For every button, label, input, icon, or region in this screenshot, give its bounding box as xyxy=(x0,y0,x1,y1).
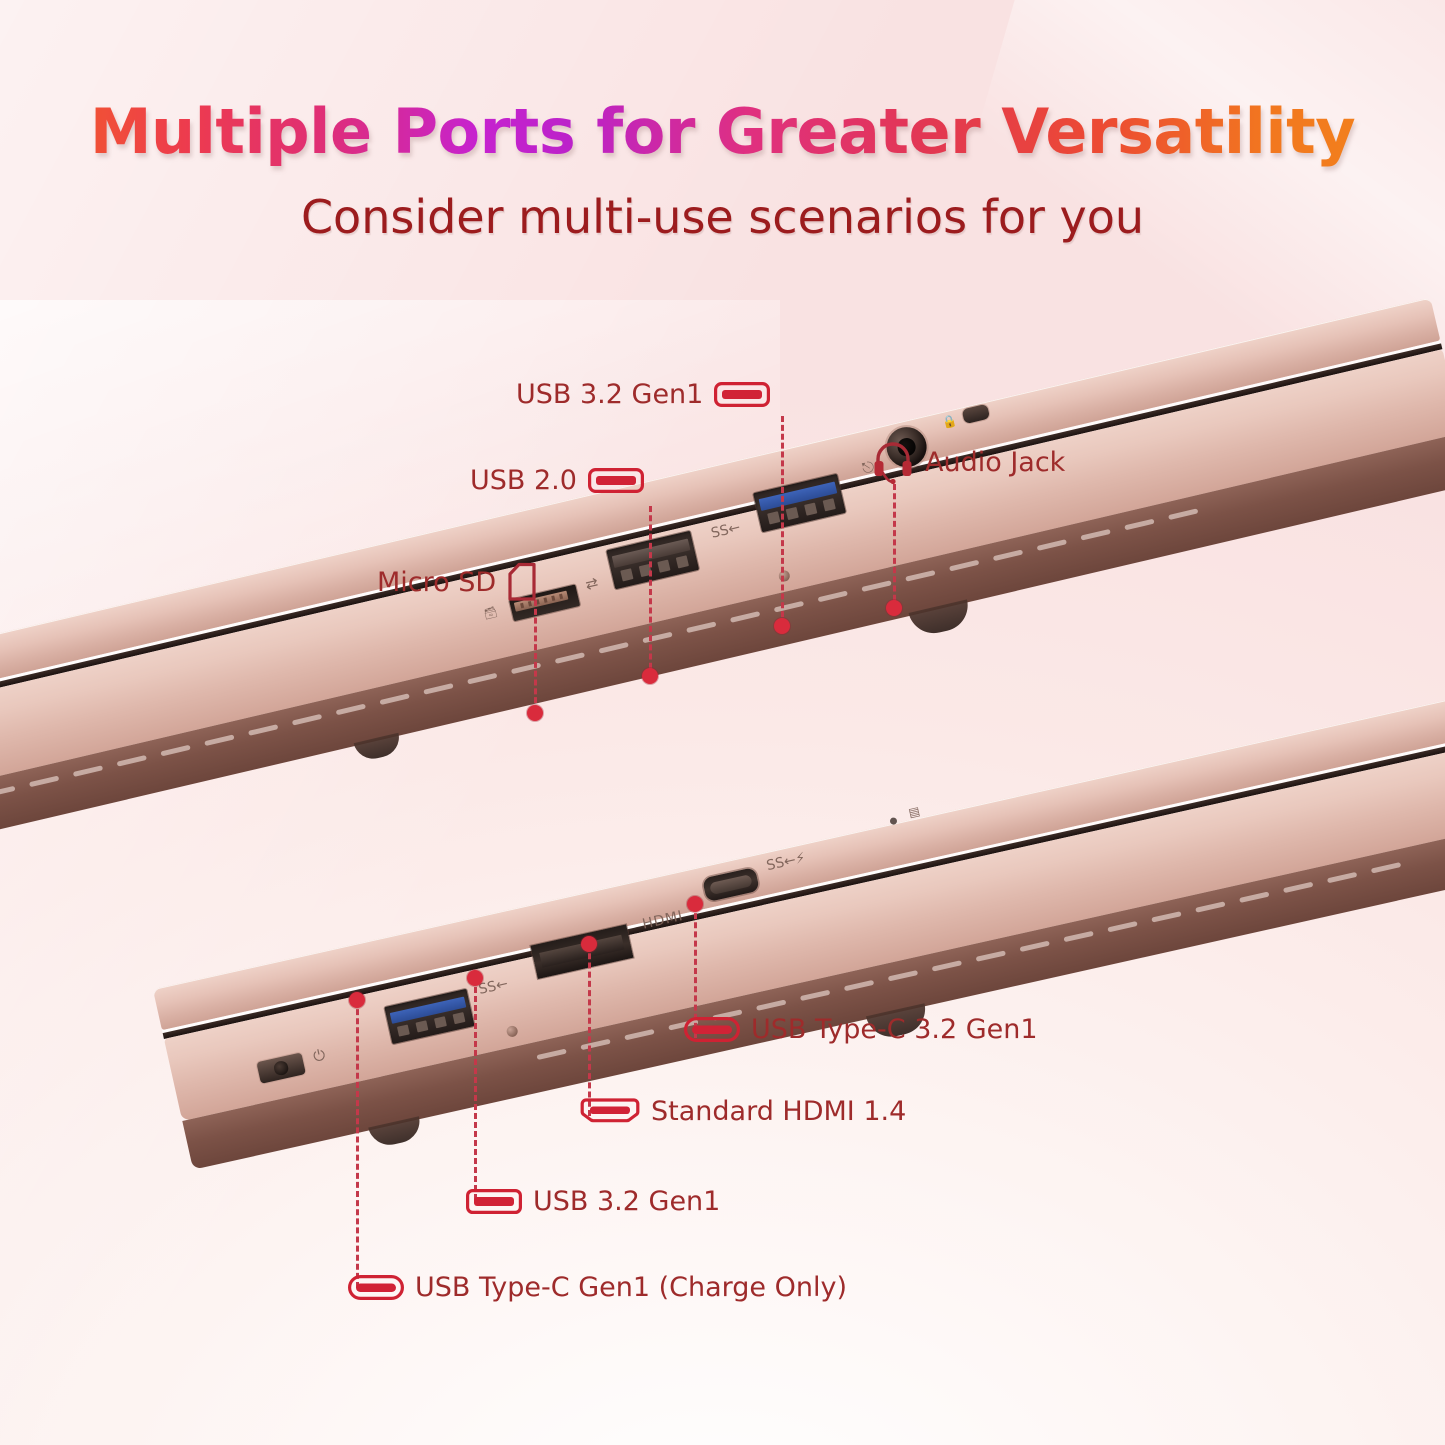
page-title: Multiple Ports for Greater Versatility xyxy=(0,95,1445,168)
callout-dot-hdmi xyxy=(581,936,597,952)
callout-label: USB Type-C 3.2 Gen1 xyxy=(751,1016,1038,1043)
callout-dot-usb-2-0 xyxy=(642,668,658,684)
callout-hdmi[interactable]: Standard HDMI 1.4 xyxy=(580,1098,906,1125)
callout-usb-c-charge-only[interactable]: USB Type-C Gen1 (Charge Only) xyxy=(348,1274,847,1301)
usb-a-icon xyxy=(466,1189,522,1214)
page-subtitle: Consider multi-use scenarios for you xyxy=(0,190,1445,244)
callout-usb-2-0[interactable]: USB 2.0 xyxy=(470,467,644,494)
callout-usb-3-2-gen1[interactable]: USB 3.2 Gen1 xyxy=(516,381,770,408)
callout-line-usb-3-2-b xyxy=(474,978,477,1200)
callout-label: USB 2.0 xyxy=(470,467,577,494)
callout-label: USB 3.2 Gen1 xyxy=(516,381,703,408)
callout-line-hdmi xyxy=(588,944,591,1116)
hdmi-icon xyxy=(580,1098,640,1125)
callout-label: Micro SD xyxy=(377,569,496,596)
usb-a-icon xyxy=(714,382,770,407)
callout-audio-jack[interactable]: Audio Jack xyxy=(872,440,1065,484)
usb-c-icon xyxy=(348,1275,404,1300)
callout-label: USB Type-C Gen1 (Charge Only) xyxy=(415,1274,847,1301)
callout-dot-usb-3-2-b xyxy=(467,970,483,986)
callout-label: Standard HDMI 1.4 xyxy=(651,1098,906,1125)
callout-usb-3-2-gen1-bottom[interactable]: USB 3.2 Gen1 xyxy=(466,1188,720,1215)
callout-dot-micro-sd xyxy=(527,705,543,721)
callout-dot-usb-c-charge xyxy=(349,992,365,1008)
callout-micro-sd[interactable]: Micro SD xyxy=(377,562,537,602)
callout-dot-usb-3-2-gen1 xyxy=(774,618,790,634)
callout-usb-c-3-2-gen1[interactable]: USB Type-C 3.2 Gen1 xyxy=(684,1016,1038,1043)
callout-line-usb-c-charge xyxy=(356,1000,359,1288)
headset-icon xyxy=(872,440,914,484)
usb-a-icon xyxy=(588,468,644,493)
callout-line-usb-3-2-gen1 xyxy=(781,416,784,626)
callout-dot-usb-c-3-2 xyxy=(687,896,703,912)
infographic-canvas: Multiple Ports for Greater Versatility C… xyxy=(0,0,1445,1445)
micro-sd-icon xyxy=(507,562,537,602)
callout-line-usb-2-0 xyxy=(649,506,652,678)
callout-label: USB 3.2 Gen1 xyxy=(533,1188,720,1215)
callout-line-audio-jack xyxy=(893,484,896,610)
callout-line-micro-sd xyxy=(534,600,537,712)
callout-label: Audio Jack xyxy=(925,449,1065,476)
usb-c-icon xyxy=(684,1017,740,1042)
callout-dot-audio-jack xyxy=(886,600,902,616)
